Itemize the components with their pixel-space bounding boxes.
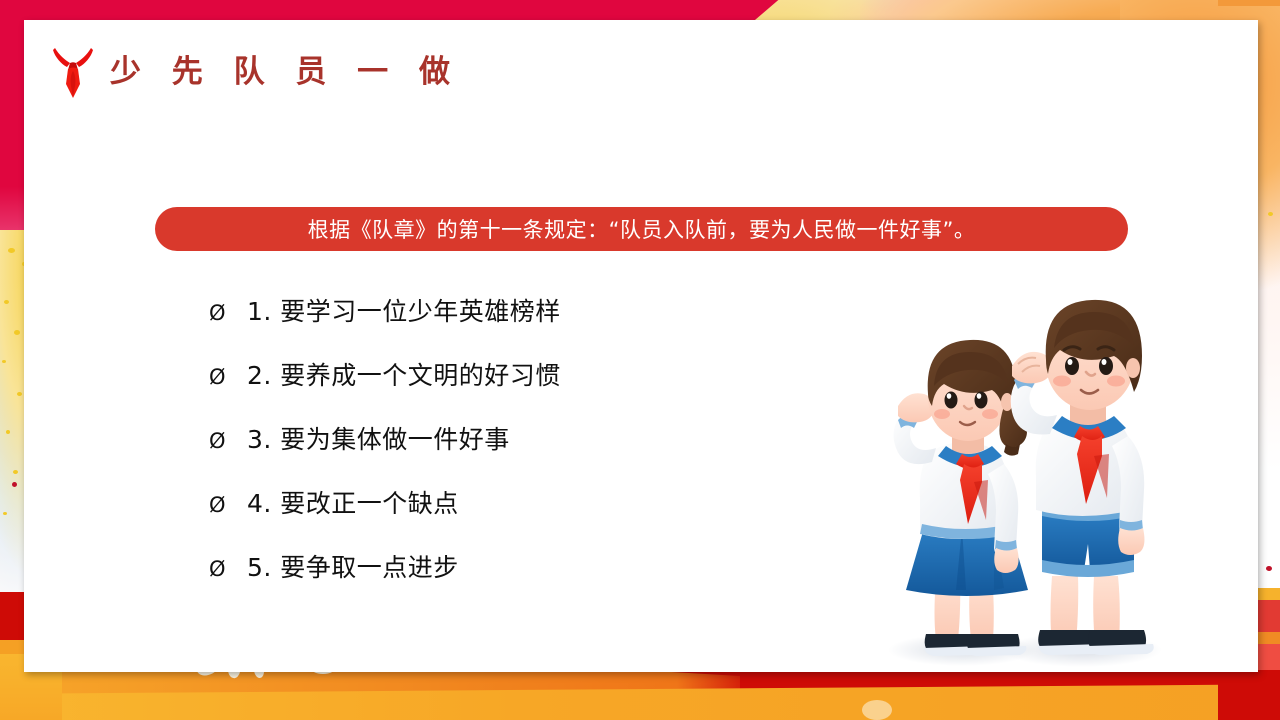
red-scarf-icon xyxy=(50,44,96,100)
gold-speck xyxy=(8,248,15,253)
red-dot-accent xyxy=(12,482,17,487)
quote-banner-text: 根据《队章》的第十一条规定：“队员入队前，要为人民做一件好事”。 xyxy=(308,214,976,244)
requirements-list: Ø 1. 要学习一位少年英雄榜样 Ø 2. 要养成一个文明的好习惯 Ø 3. 要… xyxy=(209,292,849,612)
content-card: 少 先 队 员 一 做 根据《队章》的第十一条规定：“队员入队前，要为人民做一件… xyxy=(24,20,1258,672)
list-item-label: 5. 要争取一点进步 xyxy=(247,548,459,584)
page-title: 少 先 队 员 一 做 xyxy=(110,57,460,88)
list-bullet-glyph: Ø xyxy=(209,429,247,453)
list-item-label: 3. 要为集体做一件好事 xyxy=(247,420,510,456)
gold-speck xyxy=(6,430,10,434)
list-item-label: 1. 要学习一位少年英雄榜样 xyxy=(247,292,561,328)
gold-speck xyxy=(17,392,22,396)
quote-banner: 根据《队章》的第十一条规定：“队员入队前，要为人民做一件好事”。 xyxy=(155,207,1128,251)
list-item: Ø 2. 要养成一个文明的好习惯 xyxy=(209,356,849,420)
list-item-label: 2. 要养成一个文明的好习惯 xyxy=(247,356,561,392)
girl-pioneer-saluting xyxy=(894,340,1028,656)
list-item: Ø 3. 要为集体做一件好事 xyxy=(209,420,849,484)
list-bullet-glyph: Ø xyxy=(209,301,247,325)
red-dot-accent xyxy=(1266,566,1272,571)
gold-speck xyxy=(4,300,9,304)
slide-root: 少 先 队 员 一 做 根据《队章》的第十一条规定：“队员入队前，要为人民做一件… xyxy=(0,0,1280,720)
gold-speck xyxy=(2,360,6,363)
right-deepred-band xyxy=(1218,670,1280,720)
list-bullet-glyph: Ø xyxy=(209,365,247,389)
slide-header: 少 先 队 员 一 做 xyxy=(50,44,460,100)
right-top-orange-band xyxy=(1218,0,1280,6)
list-item: Ø 4. 要改正一个缺点 xyxy=(209,484,849,548)
gold-speck xyxy=(1268,212,1273,216)
gold-speck xyxy=(3,512,7,515)
list-item: Ø 1. 要学习一位少年英雄榜样 xyxy=(209,292,849,356)
gold-speck xyxy=(13,470,18,474)
gold-speck xyxy=(14,330,20,335)
list-item: Ø 5. 要争取一点进步 xyxy=(209,548,849,612)
young-pioneers-illustration xyxy=(854,278,1214,688)
list-item-label: 4. 要改正一个缺点 xyxy=(247,484,459,520)
boy-pioneer-saluting xyxy=(1011,300,1154,655)
cream-circle-shape xyxy=(862,700,892,720)
list-bullet-glyph: Ø xyxy=(209,557,247,581)
list-bullet-glyph: Ø xyxy=(209,493,247,517)
